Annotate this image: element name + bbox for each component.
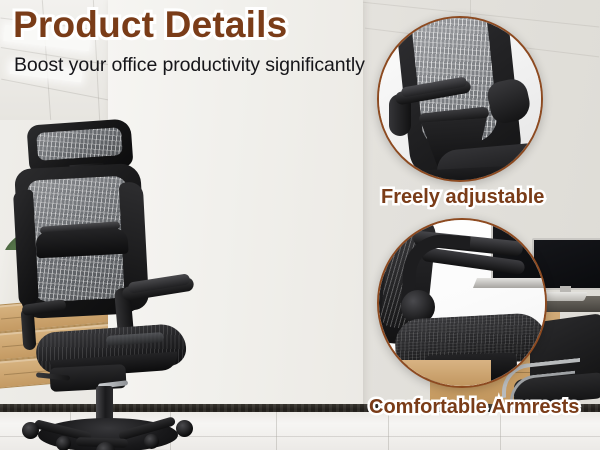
callout-label-armrests: Comfortable Armrests xyxy=(369,396,579,419)
caster-wheel xyxy=(56,436,71,450)
page-title: Product Details xyxy=(13,4,287,46)
closeup-desk-edge xyxy=(473,278,547,288)
caster-wheel xyxy=(22,422,39,439)
closeup-wood-desk xyxy=(377,360,491,388)
callout-circle-armrests xyxy=(377,218,547,388)
product-details-banner: Freely adjustable Comfortable Armrests P… xyxy=(0,0,600,450)
callout-circle-adjustable xyxy=(377,16,543,182)
main-product-chair xyxy=(10,120,210,440)
headrest-mesh xyxy=(36,127,123,161)
caster-wheel xyxy=(176,420,193,437)
page-subtitle: Boost your office productivity significa… xyxy=(14,54,365,77)
backrest-spine xyxy=(35,228,128,259)
callout-label-adjustable: Freely adjustable xyxy=(381,186,544,209)
caster-wheel xyxy=(144,434,159,449)
